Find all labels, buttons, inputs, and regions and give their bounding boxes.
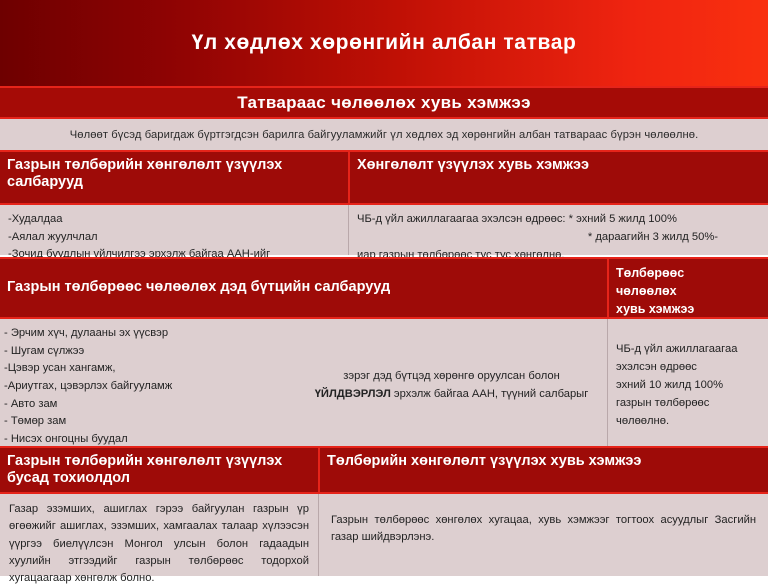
section1-body-row: -Худалдаа -Аялал жуулчлал -Зочид буудлын… — [0, 205, 768, 255]
section2-header-right: Төлбөрөөс чөлөөлөх хувь хэмжээ — [607, 259, 768, 317]
section2-body-left: - Эрчим хүч, дулааны эх үүсвэр - Шугам с… — [0, 319, 607, 446]
title-banner: Үл хөдлөх хөрөнгийн албан татвар — [0, 0, 768, 86]
section1-header-row: Газрын төлбөрийн хөнгөлөлт үзүүлэх салба… — [0, 150, 768, 205]
section3-header-left: Газрын төлбөрийн хөнгөлөлт үзүүлэх бусад… — [0, 448, 318, 492]
page-title: Үл хөдлөх хөрөнгийн албан татвар — [192, 31, 577, 55]
intro-strip: Чөлөөт бүсэд баригдаж бүртгэгдсэн барилг… — [0, 119, 768, 150]
section1-header-left: Газрын төлбөрийн хөнгөлөлт үзүүлэх салба… — [0, 152, 348, 203]
subtitle-banner: Татвараас чөлөөлөх хувь хэмжээ — [0, 86, 768, 119]
section3-header-row: Газрын төлбөрийн хөнгөлөлт үзүүлэх бусад… — [0, 446, 768, 494]
intro-text: Чөлөөт бүсэд баригдаж бүртгэгдсэн барилг… — [70, 129, 699, 141]
section3-body-row: Газар эзэмших, ашиглах гэрээ байгуулан г… — [0, 494, 768, 576]
section2-header-left: Газрын төлбөрөөс чөлөөлөх дэд бүтцийн са… — [0, 259, 607, 317]
section2-header-row: Газрын төлбөрөөс чөлөөлөх дэд бүтцийн са… — [0, 257, 768, 319]
section1-rate-line-2: * дараагийн 3 жилд 50%- — [357, 228, 760, 246]
section1-body-right: ЧБ-д үйл ажиллагаагаа эхэлсэн өдрөөс: * … — [348, 205, 768, 255]
section1-body-left: -Худалдаа -Аялал жуулчлал -Зочид буудлын… — [0, 205, 348, 255]
section2-mid-line-2: ҮЙЛДВЭРЛЭЛ эрхэлж байгаа ААН, түүний сал… — [304, 386, 599, 403]
section2-mid-line-1: зэрэг дэд бүтцэд хөрөнгө оруулсан болон — [304, 368, 599, 385]
section2-bullet-list: - Эрчим хүч, дулааны эх үүсвэр - Шугам с… — [4, 325, 304, 446]
subtitle-text: Татвараас чөлөөлөх хувь хэмжээ — [237, 93, 531, 113]
section2-mid-note: зэрэг дэд бүтцэд хөрөнгө оруулсан болон … — [304, 325, 599, 446]
section1-rate-line-1: ЧБ-д үйл ажиллагаагаа эхэлсэн өдрөөс: * … — [357, 210, 760, 228]
section1-header-right: Хөнгөлөлт үзүүлэх хувь хэмжээ — [348, 152, 768, 203]
section2-mid-bold: ҮЙЛДВЭРЛЭЛ — [315, 388, 391, 400]
slide-root: Үл хөдлөх хөрөнгийн албан татвар Татвара… — [0, 0, 768, 576]
section2-body-right: ЧБ-д үйл ажиллагаагаа эхэлсэн өдрөөс эхн… — [607, 319, 768, 446]
section3-header-right: Төлбөрийн хөнгөлөлт үзүүлэх хувь хэмжээ — [318, 448, 768, 492]
section2-mid-rest: эрхэлж байгаа ААН, түүний салбарыг — [391, 388, 588, 400]
section2-body-row: - Эрчим хүч, дулааны эх үүсвэр - Шугам с… — [0, 319, 768, 446]
section3-body-right: Газрын төлбөрөөс хөнгөлөх хугацаа, хувь … — [318, 494, 768, 576]
section3-body-left: Газар эзэмших, ашиглах гэрээ байгуулан г… — [0, 494, 318, 576]
